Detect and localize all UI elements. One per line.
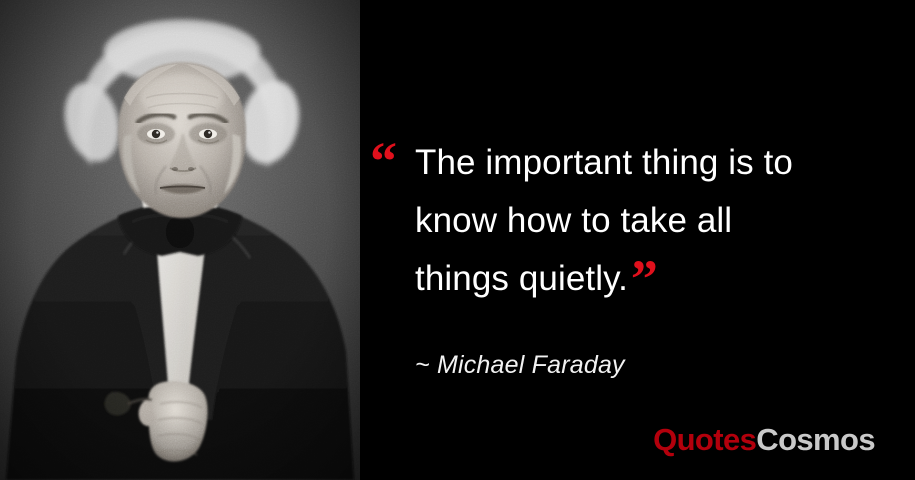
quote-line-1-text: The important thing is to [415, 143, 793, 182]
brand-name-cosmos: Cosmos [756, 422, 875, 457]
portrait-photo [0, 0, 360, 480]
quote-card: “The important thing is to know how to t… [0, 0, 915, 480]
quote-panel: “The important thing is to know how to t… [360, 0, 915, 480]
open-quote-icon: “ [370, 132, 397, 190]
quote-block: “The important thing is to know how to t… [370, 134, 890, 308]
quote-line-2: know how to take all [370, 192, 890, 250]
quote-line-1: “The important thing is to [370, 134, 890, 192]
portrait-panel [0, 0, 360, 480]
quote-line-3: things quietly.” [370, 250, 890, 308]
close-quote-icon: ” [631, 249, 658, 309]
brand-name-quotes: Quotes [653, 422, 756, 457]
attribution: ~ Michael Faraday [415, 351, 625, 380]
brand-logo[interactable]: QuotesCosmos [653, 423, 875, 457]
quote-line-2-text: know how to take all [415, 201, 732, 240]
quote-line-3-text: things quietly. [415, 259, 628, 298]
